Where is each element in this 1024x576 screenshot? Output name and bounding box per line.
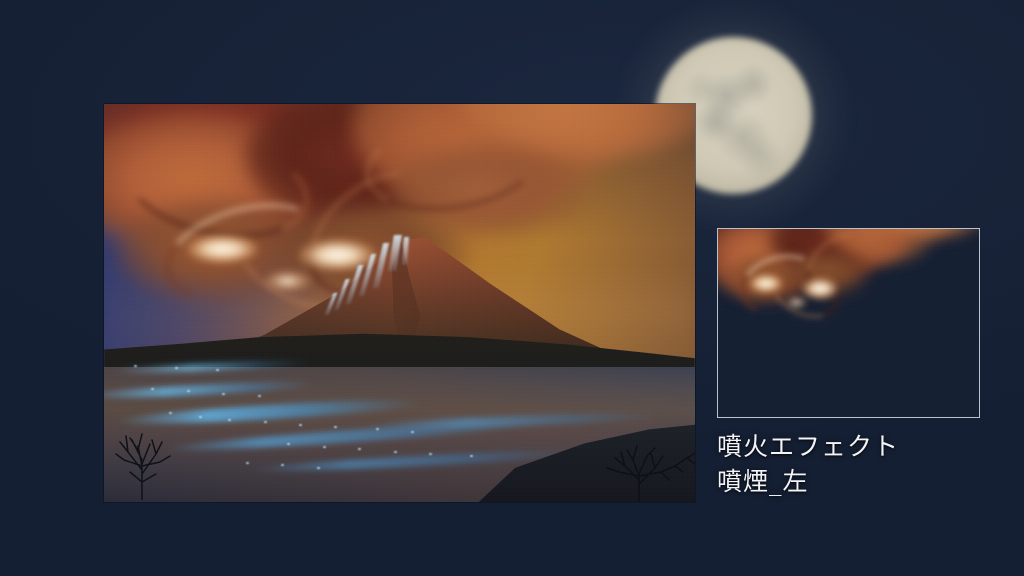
water-sparkle	[199, 416, 202, 418]
water-sparkle	[323, 446, 326, 448]
water-sparkle	[317, 467, 320, 469]
preview-plume	[718, 229, 979, 417]
preview-smoke-hotspot	[786, 297, 807, 308]
bare-tree-right	[599, 444, 695, 502]
water-sparkle	[175, 367, 178, 369]
caption-effect-title: 噴火エフェクト	[717, 429, 899, 464]
bare-tree-left	[112, 426, 182, 500]
main-artwork[interactable]	[104, 104, 695, 502]
screen-root: 噴火エフェクト 噴煙_左	[0, 0, 1024, 576]
water-sparkle	[394, 451, 397, 453]
caption-layer-name: 噴煙_左	[717, 464, 899, 499]
water-sparkle	[151, 388, 154, 390]
water-sparkle	[134, 365, 137, 367]
water-sparkle	[187, 390, 190, 392]
water-sparkle	[246, 462, 249, 464]
water-sparkle	[258, 395, 261, 397]
preview-smoke-hotspot	[749, 274, 783, 293]
caption-block: 噴火エフェクト 噴煙_左	[717, 429, 899, 499]
smoke-layer-preview-panel[interactable]	[717, 228, 980, 418]
water-sparkle	[228, 419, 231, 421]
preview-smoke-hotspot	[802, 278, 839, 299]
water-sparkle	[299, 424, 302, 426]
water-sparkle	[222, 393, 225, 395]
water-sparkle	[264, 421, 267, 423]
